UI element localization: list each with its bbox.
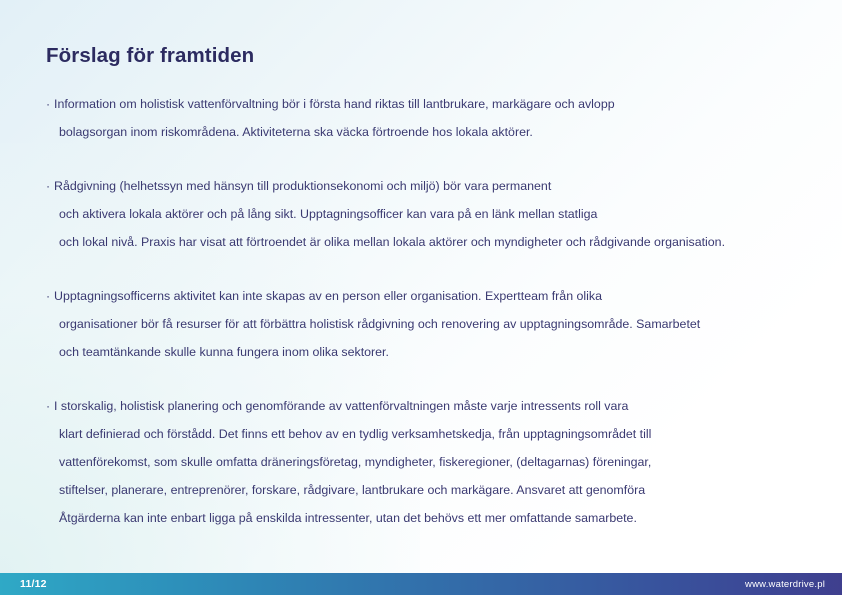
bullet-text-line: och aktivera lokala aktörer och på lång … xyxy=(54,200,808,228)
footer-bar: 11/12 www.waterdrive.pl xyxy=(0,573,842,595)
page-indicator: 11/12 xyxy=(20,578,47,590)
bullet-text-line: Upptagningsofficerns aktivitet kan inte … xyxy=(54,282,808,310)
bullet-text-line: stiftelser, planerare, entreprenörer, fo… xyxy=(54,476,808,504)
bullet-text-line: organisationer bör få resurser för att f… xyxy=(54,310,808,338)
bullet-text-line: klart definierad och förstådd. Det finns… xyxy=(54,420,808,448)
bullet-text-line: vattenförekomst, som skulle omfatta drän… xyxy=(54,448,808,476)
bullet-text-line: Rådgivning (helhetssyn med hänsyn till p… xyxy=(54,172,808,200)
bullet-text-line: och teamtänkande skulle kunna fungera in… xyxy=(54,338,808,366)
presentation-slide: Förslag för framtiden ·Information om ho… xyxy=(0,0,842,595)
page-title: Förslag för framtiden xyxy=(46,0,808,69)
bullet-text-line: bolagsorgan inom riskområdena. Aktivitet… xyxy=(54,118,808,146)
bullet-point-icon: · xyxy=(46,282,54,310)
bullet-point-icon: · xyxy=(46,90,54,118)
bullet-point-icon: · xyxy=(46,392,54,420)
bullet-list: ·Information om holistisk vattenförvaltn… xyxy=(46,69,808,532)
list-item: ·Information om holistisk vattenförvaltn… xyxy=(46,90,808,146)
bullet-text-line: och lokal nivå. Praxis har visat att för… xyxy=(54,228,808,256)
bullet-text-line: Information om holistisk vattenförvaltni… xyxy=(54,90,808,118)
website-url[interactable]: www.waterdrive.pl xyxy=(745,579,825,590)
list-item: ·I storskalig, holistisk planering och g… xyxy=(46,392,808,532)
bullet-point-icon: · xyxy=(46,172,54,200)
bullet-text-line: I storskalig, holistisk planering och ge… xyxy=(54,392,808,420)
list-item: ·Upptagningsofficerns aktivitet kan inte… xyxy=(46,282,808,366)
list-item: ·Rådgivning (helhetssyn med hänsyn till … xyxy=(46,172,808,256)
slide-content: Förslag för framtiden ·Information om ho… xyxy=(0,0,842,532)
bullet-text-line: Åtgärderna kan inte enbart ligga på ensk… xyxy=(54,504,808,532)
